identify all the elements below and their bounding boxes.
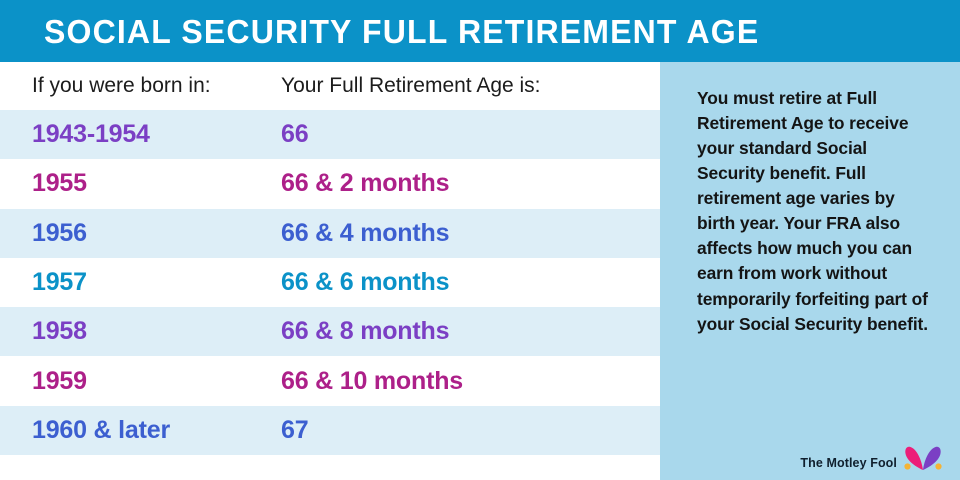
cell-full-retirement-age: 67 [281, 416, 308, 445]
infographic-root: SOCIAL SECURITY FULL RETIREMENT AGE If y… [0, 0, 960, 480]
table-row: 1958 66 & 8 months [0, 307, 660, 356]
cell-birth-year: 1959 [0, 367, 281, 396]
cell-full-retirement-age: 66 & 6 months [281, 268, 449, 297]
table-row: 1959 66 & 10 months [0, 356, 660, 405]
cell-birth-year: 1955 [0, 169, 281, 198]
jester-hat-icon [902, 445, 944, 471]
cell-birth-year: 1957 [0, 268, 281, 297]
table-row: 1960 & later 67 [0, 406, 660, 455]
page-title: SOCIAL SECURITY FULL RETIREMENT AGE [44, 15, 759, 48]
cell-full-retirement-age: 66 & 4 months [281, 219, 449, 248]
column-header-full-retirement-age: Your Full Retirement Age is: [281, 74, 541, 98]
table-row: 1956 66 & 4 months [0, 209, 660, 258]
cell-birth-year: 1960 & later [0, 416, 281, 445]
header-banner: SOCIAL SECURITY FULL RETIREMENT AGE [0, 0, 960, 62]
table-header-row: If you were born in: Your Full Retiremen… [0, 62, 660, 110]
brand-logo-label: The Motley Fool [800, 456, 897, 471]
cell-full-retirement-age: 66 [281, 120, 308, 149]
retirement-age-table: If you were born in: Your Full Retiremen… [0, 62, 660, 455]
cell-full-retirement-age: 66 & 10 months [281, 367, 463, 396]
table-row: 1957 66 & 6 months [0, 258, 660, 307]
table-row: 1943-1954 66 [0, 110, 660, 159]
cell-full-retirement-age: 66 & 8 months [281, 317, 449, 346]
sidebar-note-panel: You must retire at Full Retirement Age t… [660, 62, 960, 480]
cell-birth-year: 1943-1954 [0, 120, 281, 149]
cell-full-retirement-age: 66 & 2 months [281, 169, 449, 198]
column-header-birth-year: If you were born in: [0, 74, 281, 98]
cell-birth-year: 1956 [0, 219, 281, 248]
brand-logo: The Motley Fool [800, 445, 944, 471]
cell-birth-year: 1958 [0, 317, 281, 346]
sidebar-note-text: You must retire at Full Retirement Age t… [697, 86, 934, 337]
table-row: 1955 66 & 2 months [0, 159, 660, 208]
